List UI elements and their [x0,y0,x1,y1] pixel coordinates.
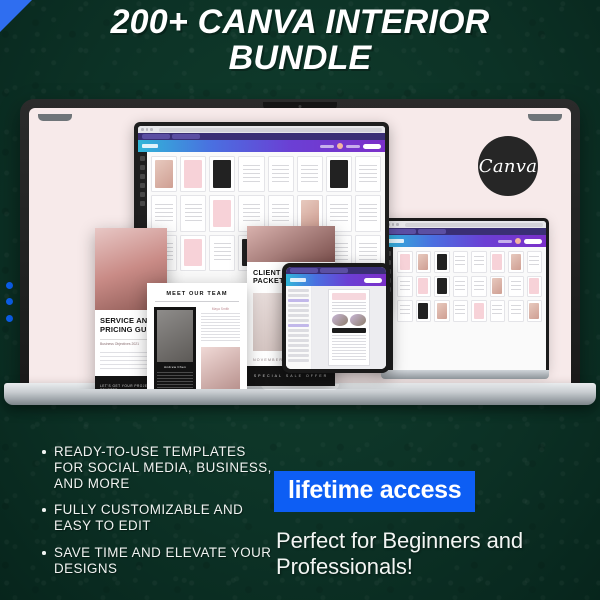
create-design-button [524,239,542,244]
rail-icon [140,201,145,206]
sidebar-row [288,359,309,362]
template-card [490,251,506,273]
create-design-button [363,144,381,149]
browser-dot-icon [150,128,153,131]
browser-dot-icon [141,128,144,131]
canva-app-header [138,140,385,152]
sidebar-row-active [288,299,309,302]
editor-canvas [312,286,386,369]
template-card [151,195,177,231]
rail-icon [140,165,145,170]
template-card [151,156,177,192]
laptop-lid: Canva [20,99,580,389]
rail-icon [140,174,145,179]
tab-strip [138,133,385,140]
rail-icon [140,183,145,188]
template-card [434,276,450,298]
canva-body [384,247,546,370]
mockup-banner-text: SPECIAL SALE OFFER [254,374,328,378]
page-title: 200+ CANVA INTERIOR BUNDLE [0,4,600,77]
template-card [508,300,524,322]
list-item: SAVE TIME AND ELEVATE YOUR DESIGNS [40,545,272,577]
address-bar [405,223,544,227]
mockup-column-right: Maya Smith [201,307,240,390]
tab-strip [286,267,386,274]
page-text-block [332,302,366,312]
sidebar-row [288,309,309,312]
browser-tab [418,229,446,234]
template-card [397,276,413,298]
sidebar-row [288,329,309,332]
sidebar-row-active [288,324,309,327]
canva-app-header [384,235,546,247]
template-card [355,195,381,231]
rail-icon [140,192,145,197]
template-card [508,251,524,273]
template-card [508,276,524,298]
template-card [180,156,206,192]
template-card [527,251,543,273]
mockup-meet-our-team: MEET OUR TEAM Andrew Chen Maya Smith [147,283,247,389]
lifetime-access-label: lifetime access [288,476,461,504]
canva-logo: Canva [478,136,538,196]
page-text-block [332,335,366,362]
sidebar-row [288,319,309,322]
template-card [434,300,450,322]
canva-wordmark-icon [290,278,306,282]
browser-tab [320,268,348,273]
avatar [337,143,343,149]
canva-app-header [286,274,386,286]
browser-dot-icon [396,223,399,226]
template-card [397,300,413,322]
template-card [453,251,469,273]
browser-bar [138,126,385,133]
tagline: Perfect for Beginners and Professionals! [276,528,576,579]
browser-tab [142,134,170,139]
browser-dot-icon [146,128,149,131]
tablet-device [282,263,390,373]
template-card [527,300,543,322]
template-card [209,156,235,192]
template-card [434,251,450,273]
sidebar-row [288,304,309,307]
browser-tab [388,229,416,234]
template-card [397,251,413,273]
template-card [416,276,432,298]
sidebar-row [288,314,309,317]
tab-strip [384,228,546,235]
document-editor [286,286,386,369]
canva-window-tablet [286,267,386,369]
person-photo [157,310,193,362]
canva-window-secondary [384,221,546,370]
template-card [238,156,264,192]
sidebar-row [288,339,309,342]
template-card [416,300,432,322]
template-card [453,300,469,322]
browser-tab [172,134,200,139]
laptop-foot [528,114,562,121]
template-card [209,235,235,271]
person-photo [201,347,240,390]
document-page [328,289,370,366]
laptop-foot [38,114,72,121]
rail-icon [140,156,145,161]
header-link [498,240,512,243]
mockup-column-left: Andrew Chen [154,307,196,390]
sidebar-row [288,294,309,297]
page-cta-button [332,328,366,333]
headline-line-2: BUNDLE [229,39,372,77]
template-card [471,251,487,273]
list-item: READY-TO-USE TEMPLATES FOR SOCIAL MEDIA,… [40,444,272,491]
browser-tab [290,268,318,273]
template-card [453,276,469,298]
template-card [180,195,206,231]
team-person-card: Andrew Chen [154,307,196,390]
secondary-monitor [381,218,549,370]
sidebar-row [288,354,309,357]
mockup-title: MEET OUR TEAM [147,283,247,301]
lifetime-access-badge: lifetime access [274,471,475,512]
sidebar-row [288,349,309,352]
share-button [364,278,382,283]
person-bio [157,372,193,390]
list-item: FULLY CUSTOMIZABLE AND EASY TO EDIT [40,502,272,534]
canva-wordmark-icon [142,144,158,148]
sidebar-row [288,334,309,337]
avatar [515,238,521,244]
template-card [180,235,206,271]
secondary-monitor-stand [381,370,549,379]
template-card [326,156,352,192]
sidebar-row [288,289,309,292]
page-image-row [332,314,366,326]
template-card [471,276,487,298]
template-grid [393,247,546,370]
template-card [527,276,543,298]
mockup-columns: Andrew Chen Maya Smith [147,307,247,390]
browser-bar [384,221,546,228]
browser-dot-icon [392,223,395,226]
address-bar [159,128,383,132]
laptop-screen: Canva [29,108,571,389]
header-link [346,145,360,148]
template-card [416,251,432,273]
template-card [209,195,235,231]
page-header-block [332,293,366,300]
headline-line-1: 200+ CANVA INTERIOR [111,3,490,41]
template-card [297,156,323,192]
template-card [490,300,506,322]
feature-bullet-list: READY-TO-USE TEMPLATES FOR SOCIAL MEDIA,… [40,444,272,588]
person-name: Andrew Chen [157,362,193,369]
template-card [490,276,506,298]
canva-logo-text: Canva [479,156,538,177]
person-bio [201,313,240,343]
laptop-base [4,383,596,405]
mockup-photo [247,226,335,262]
divider [155,301,239,302]
template-card [355,156,381,192]
header-link [320,145,334,148]
template-card [471,300,487,322]
sidebar-row [288,344,309,347]
template-card [268,156,294,192]
editor-sidebar [286,286,312,369]
canva-wordmark-icon [388,239,404,243]
hero-device-mockup: Canva [0,95,600,400]
